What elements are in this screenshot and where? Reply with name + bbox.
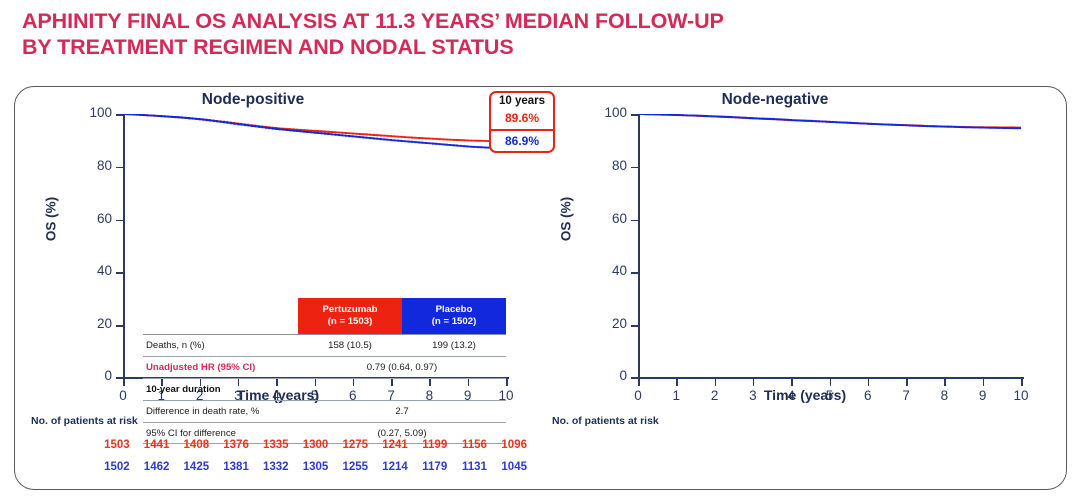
y-tick-label: 80 [612,158,627,173]
chart-panel-frame: Node-positive OS (%) 100 80 60 40 20 0 0… [14,86,1067,490]
row-label: 10-year duration [143,384,298,395]
chart-panel-node-positive: Node-positive OS (%) 100 80 60 40 20 0 0… [15,87,541,491]
at-risk-row-placebo-left: 1502146214251381133213051255121411791131… [97,461,534,473]
y-axis-label-right: OS (%) [559,197,574,241]
x-tick-label: 6 [864,388,872,403]
y-tick-label: 0 [619,368,627,383]
row-value-pertuzumab: 158 (10.5) [298,340,402,351]
x-tick-label: 1 [673,388,681,403]
y-tick-label: 40 [97,263,112,278]
page-title: APHINITY FINAL OS ANALYSIS AT 11.3 YEARS… [22,8,1052,60]
row-label: Difference in death rate, % [143,406,298,417]
survival-curves-node-negative [638,114,1021,379]
callout-10-years-node-positive: 10 years 89.6% 86.9% [489,91,555,153]
x-tick-label: 2 [711,388,719,403]
at-risk-value: 1131 [455,461,495,473]
table-row: 10-year duration [143,378,506,400]
at-risk-value: 1275 [335,439,375,451]
row-label: Unadjusted HR (95% CI) [143,362,298,373]
y-tick-label: 100 [604,105,627,120]
x-tick-label: 9 [979,388,987,403]
at-risk-value: 1179 [415,461,455,473]
at-risk-label-right: No. of patients at risk [552,415,659,427]
row-value: 0.79 (0.64, 0.97) [298,362,506,373]
stats-table-node-positive: Pertuzumab (n = 1503) Placebo (n = 1502)… [143,298,506,444]
slide-root: APHINITY FINAL OS ANALYSIS AT 11.3 YEARS… [0,0,1080,501]
x-tick-label: 7 [902,388,910,403]
at-risk-value: 1096 [494,439,534,451]
at-risk-value: 1335 [256,439,296,451]
page-title-line-1: APHINITY FINAL OS ANALYSIS AT 11.3 YEARS… [22,8,1052,34]
y-tick-label: 60 [97,211,112,226]
table-row: Unadjusted HR (95% CI) 0.79 (0.64, 0.97) [143,356,506,378]
at-risk-value: 1408 [176,439,216,451]
at-risk-value: 1214 [375,461,415,473]
page-title-line-2: BY TREATMENT REGIMEN AND NODAL STATUS [22,34,1052,60]
row-label: Deaths, n (%) [143,340,298,351]
table-row: Deaths, n (%) 158 (10.5) 199 (13.2) [143,334,506,356]
y-tick-label: 100 [89,105,112,120]
legend-placebo-name: Placebo [436,304,473,316]
at-risk-value: 1425 [176,461,216,473]
legend-pertuzumab-n: (n = 1503) [328,316,373,328]
y-tick-label: 60 [612,211,627,226]
at-risk-value: 1376 [216,439,256,451]
x-tick-label: 3 [749,388,757,403]
at-risk-value: 1503 [97,439,137,451]
at-risk-value: 1300 [296,439,336,451]
plot-area-node-negative: 100 80 60 40 20 0 0 1 2 3 4 5 6 7 8 9 10 [638,114,1021,379]
at-risk-value: 1462 [137,461,177,473]
row-value: 2.7 [298,406,506,417]
callout-heading: 10 years [491,93,553,108]
callout-pertuzumab-value: 89.6% [491,108,553,131]
legend-placebo-n: (n = 1502) [432,316,477,328]
at-risk-value: 1441 [137,439,177,451]
y-tick-label: 40 [612,263,627,278]
at-risk-label-left: No. of patients at risk [31,415,138,427]
y-tick-label: 20 [97,316,112,331]
y-tick-label: 20 [612,316,627,331]
legend-row: Pertuzumab (n = 1503) Placebo (n = 1502) [143,298,506,334]
y-axis-label-left: OS (%) [44,197,59,241]
at-risk-value: 1332 [256,461,296,473]
row-label: 95% CI for difference [143,428,298,439]
at-risk-value: 1381 [216,461,256,473]
at-risk-value: 1502 [97,461,137,473]
x-tick-label: 10 [1013,388,1028,403]
table-row: Difference in death rate, % 2.7 [143,400,506,422]
at-risk-value: 1255 [335,461,375,473]
legend-pertuzumab: Pertuzumab (n = 1503) [298,298,402,334]
x-tick-label: 0 [634,388,642,403]
callout-placebo-value: 86.9% [491,131,553,151]
row-value: (0.27, 5.09) [298,428,506,439]
at-risk-value: 1199 [415,439,455,451]
at-risk-value: 1045 [494,461,534,473]
legend-spacer [143,298,298,334]
y-tick-label: 0 [104,368,112,383]
x-tick-label: 8 [941,388,949,403]
row-value-placebo: 199 (13.2) [402,340,506,351]
at-risk-value: 1241 [375,439,415,451]
at-risk-value: 1156 [455,439,495,451]
y-tick-label: 80 [97,158,112,173]
x-axis-label-right: Time (years) [764,387,846,403]
at-risk-value: 1305 [296,461,336,473]
at-risk-row-pertuzumab-left: 1503144114081376133513001275124111991156… [97,439,534,451]
chart-panel-node-negative: Node-negative OS (%) 100 80 60 40 20 0 0… [542,87,1068,491]
x-tick-label: 0 [119,388,127,403]
legend-pertuzumab-name: Pertuzumab [323,304,378,316]
legend-placebo: Placebo (n = 1502) [402,298,506,334]
